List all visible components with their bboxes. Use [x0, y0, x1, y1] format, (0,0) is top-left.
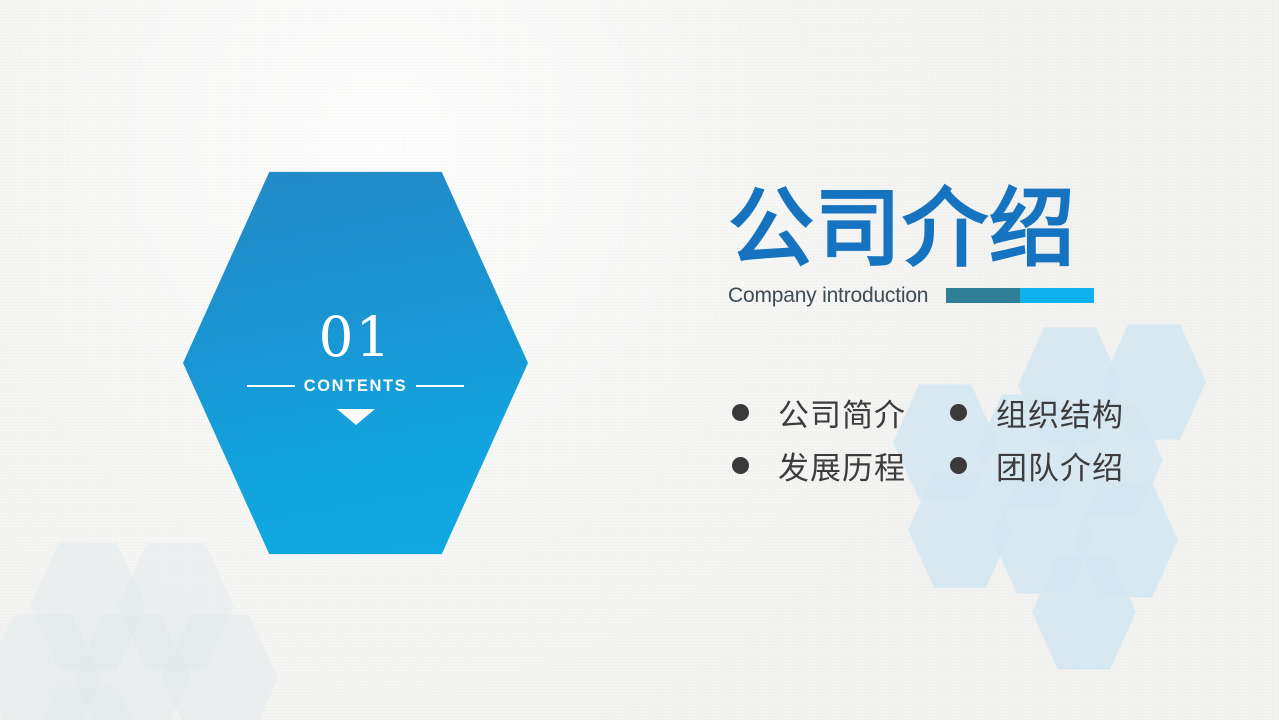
accent-bar-light-segment: [1020, 288, 1094, 303]
list-item[interactable]: 团队介绍: [950, 443, 1168, 488]
list-item-label: 公司简介: [778, 390, 906, 435]
hexagon-content: 01 CONTENTS: [183, 168, 528, 558]
accent-bar: [946, 288, 1094, 303]
bullet-dot-icon: [732, 457, 749, 474]
list-item-label: 组织结构: [996, 390, 1124, 435]
list-item[interactable]: 组织结构: [950, 390, 1168, 435]
list-item-label: 发展历程: [778, 443, 906, 488]
caret-down-icon: [337, 409, 375, 425]
section-number: 01: [319, 310, 393, 365]
presentation-slide: 01 CONTENTS 公司介绍 Company introduction 公司…: [0, 0, 1279, 720]
bullet-dot-icon: [950, 457, 967, 474]
contents-hexagon-badge: 01 CONTENTS: [183, 168, 528, 558]
contents-label: CONTENTS: [304, 377, 408, 396]
list-item[interactable]: 公司简介: [732, 390, 950, 435]
list-item[interactable]: 发展历程: [732, 443, 950, 488]
bullet-dot-icon: [950, 404, 967, 421]
heading-block: 公司介绍 Company introduction: [728, 186, 1198, 308]
subtitle-row: Company introduction: [728, 284, 1198, 308]
list-item-label: 团队介绍: [996, 443, 1124, 488]
contents-label-row: CONTENTS: [247, 377, 465, 396]
page-title: 公司介绍: [728, 186, 1198, 274]
agenda-list: 公司简介 组织结构 发展历程 团队介绍: [732, 386, 1168, 492]
rule-right: [416, 385, 464, 387]
accent-bar-dark-segment: [946, 288, 1020, 303]
bullet-dot-icon: [732, 404, 749, 421]
rule-left: [247, 385, 295, 387]
page-subtitle: Company introduction: [728, 284, 928, 308]
